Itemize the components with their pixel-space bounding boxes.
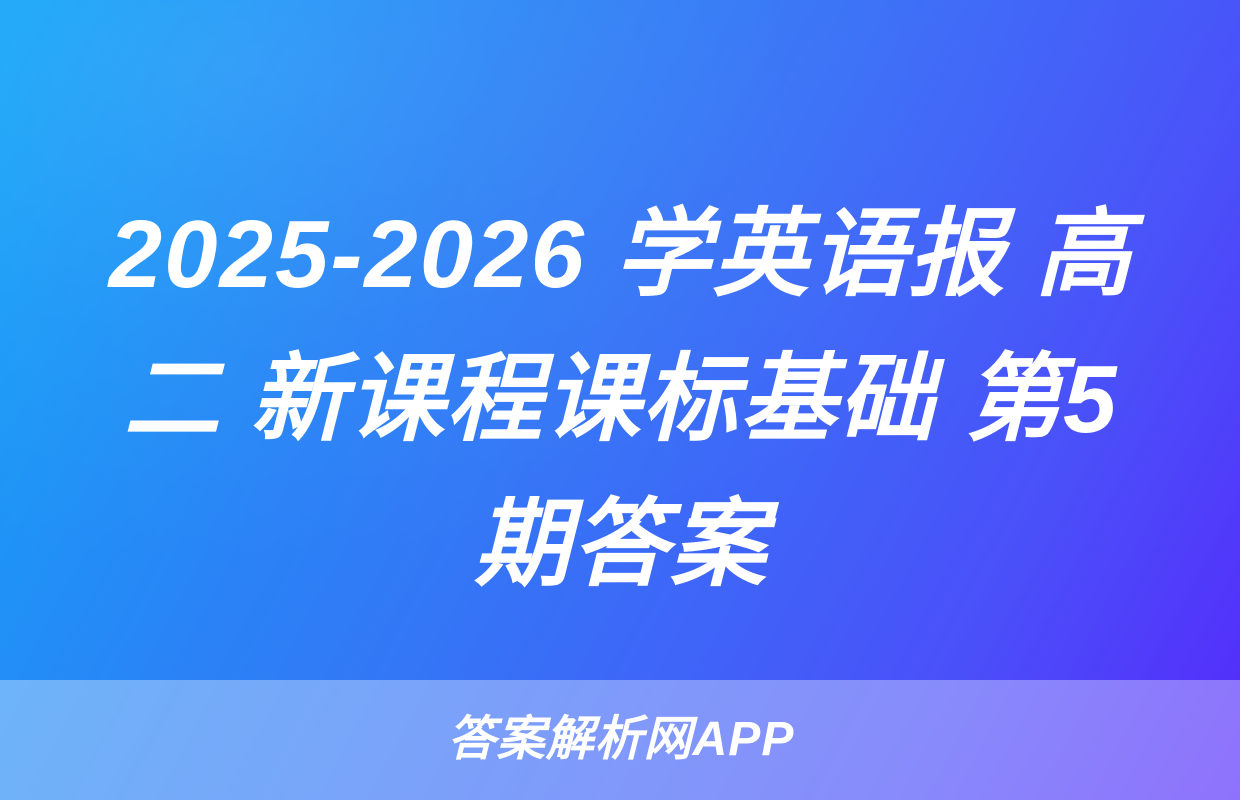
app-brand-label: 答案解析网APP bbox=[448, 716, 795, 764]
poster-canvas: 2025-2026 学英语报 高 二 新课程课标基础 第5 期答案 答案解析网A… bbox=[0, 0, 1242, 800]
footer-brand-area: 答案解析网APP bbox=[0, 680, 1242, 800]
title-line-2: 二 新课程课标基础 第5 bbox=[46, 327, 1196, 472]
title-line-1: 2025-2026 学英语报 高 bbox=[46, 182, 1196, 327]
page-title: 2025-2026 学英语报 高 二 新课程课标基础 第5 期答案 bbox=[0, 182, 1242, 617]
title-line-3: 期答案 bbox=[46, 472, 1196, 617]
